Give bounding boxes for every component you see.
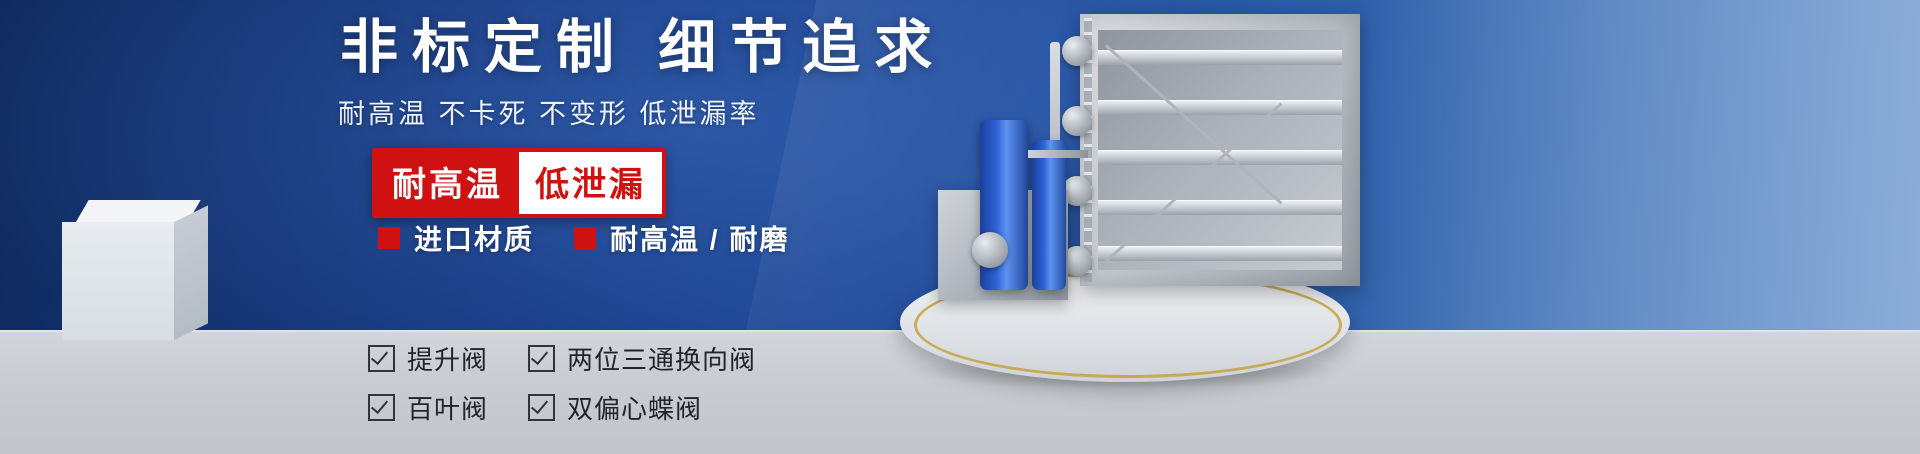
actuator-joint — [972, 232, 1008, 268]
bullet-item: 进口材质 — [378, 218, 534, 258]
bullet-item-label: 进口材质 — [414, 218, 534, 258]
list-item: 两位三通换向阀 — [528, 340, 756, 377]
cube-side-face — [174, 205, 208, 340]
list-item: 双偏心蝶阀 — [528, 389, 756, 426]
list-item-label: 提升阀 — [407, 340, 488, 377]
damper-blade — [1098, 50, 1342, 65]
red-square-icon — [574, 227, 596, 249]
damper-valve-unit — [1080, 14, 1380, 304]
damper-linkage-hub — [1062, 106, 1092, 136]
checkbox-checked-icon — [368, 345, 395, 372]
product-checklist: 提升阀 两位三通换向阀 百叶阀 双偏心蝶阀 — [368, 340, 756, 426]
bullet-item: 耐高温 / 耐磨 — [574, 218, 789, 258]
checkbox-checked-icon — [368, 394, 395, 421]
feature-tag: 耐高温 低泄漏 — [372, 148, 666, 218]
list-item-label: 两位三通换向阀 — [567, 340, 756, 377]
feature-tag-right-label: 低泄漏 — [519, 152, 662, 214]
list-item-label: 双偏心蝶阀 — [567, 389, 702, 426]
red-square-icon — [378, 227, 400, 249]
damper-frame — [1080, 14, 1360, 286]
damper-blade — [1098, 100, 1342, 115]
checkbox-checked-icon — [528, 394, 555, 421]
feature-tag-left-label: 耐高温 — [376, 152, 519, 214]
pneumatic-cylinder — [1032, 140, 1066, 290]
list-item: 提升阀 — [368, 340, 488, 377]
damper-linkage-hub — [1062, 36, 1092, 66]
decorative-cube — [62, 200, 212, 345]
checkbox-checked-icon — [528, 345, 555, 372]
damper-blade — [1098, 200, 1342, 215]
cube-front-face — [62, 222, 174, 340]
actuator-push-rod — [1028, 150, 1088, 158]
bullet-item-label: 耐高温 / 耐磨 — [610, 218, 789, 258]
damper-blade — [1098, 246, 1342, 261]
bullet-list: 进口材质 耐高温 / 耐磨 — [378, 218, 789, 258]
product-image — [880, 0, 1580, 420]
list-item: 百叶阀 — [368, 389, 488, 426]
list-item-label: 百叶阀 — [407, 389, 488, 426]
promo-banner: 非标定制 细节追求 耐高温 不卡死 不变形 低泄漏率 耐高温 低泄漏 进口材质 … — [0, 0, 1920, 454]
